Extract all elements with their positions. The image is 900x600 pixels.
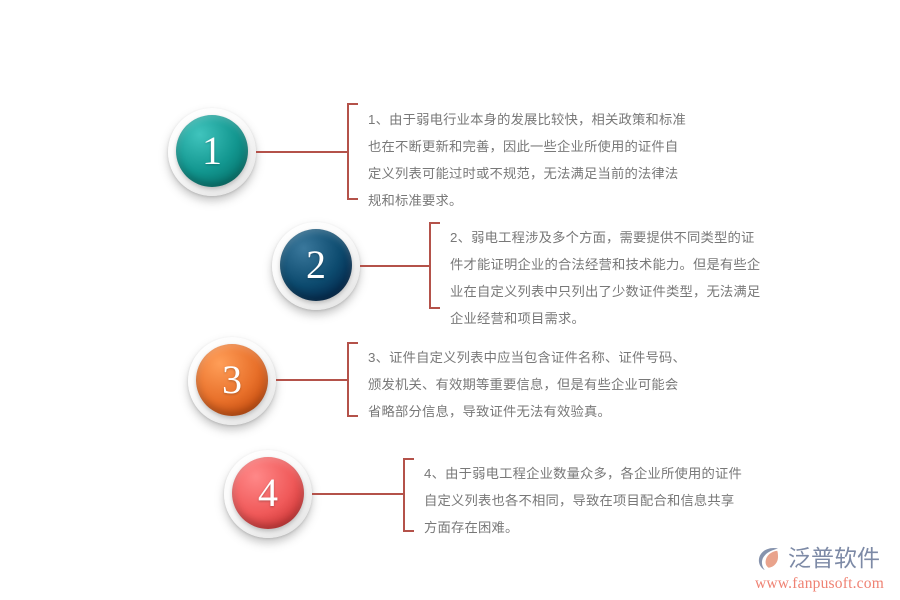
step-badge-1[interactable]: 1: [168, 108, 256, 196]
step-bracket-4: [403, 458, 414, 532]
step-number-4: 4: [258, 473, 278, 513]
step-badge-4[interactable]: 4: [224, 450, 312, 538]
step-connector-4: [312, 493, 404, 495]
step-bracket-3: [347, 342, 358, 417]
step-badge-inner-1: 1: [176, 115, 248, 187]
step-number-1: 1: [202, 131, 222, 171]
step-connector-1: [256, 151, 348, 153]
step-badge-inner-2: 2: [280, 229, 352, 301]
fanpu-logo-icon: [754, 543, 785, 574]
step-text-2: 2、弱电工程涉及多个方面，需要提供不同类型的证 件才能证明企业的合法经营和技术能…: [450, 224, 805, 332]
infographic-root: 1 1、由于弱电行业本身的发展比较快，相关政策和标准 也在不断更新和完善，因此一…: [0, 0, 900, 600]
brand-name: 泛普软件: [788, 547, 880, 570]
step-text-4: 4、由于弱电工程企业数量众多，各企业所使用的证件 自定义列表也各不相同，导致在项…: [424, 460, 784, 541]
step-badge-inner-3: 3: [196, 344, 268, 416]
brand-logo: 泛普软件 www.fanpusoft.com: [754, 543, 894, 592]
step-number-3: 3: [222, 360, 242, 400]
step-bracket-2: [429, 222, 440, 309]
step-text-3: 3、证件自定义列表中应当包含证件名称、证件号码、 颁发机关、有效期等重要信息，但…: [368, 344, 723, 425]
step-badge-3[interactable]: 3: [188, 337, 276, 425]
brand-logo-top: 泛普软件: [754, 543, 880, 574]
step-connector-3: [276, 379, 348, 381]
step-number-2: 2: [306, 245, 326, 285]
step-connector-2: [360, 265, 430, 267]
brand-url: www.fanpusoft.com: [755, 575, 884, 592]
step-text-1: 1、由于弱电行业本身的发展比较快，相关政策和标准 也在不断更新和完善，因此一些企…: [368, 106, 718, 214]
step-badge-inner-4: 4: [232, 457, 304, 529]
step-bracket-1: [347, 103, 358, 200]
step-badge-2[interactable]: 2: [272, 222, 360, 310]
